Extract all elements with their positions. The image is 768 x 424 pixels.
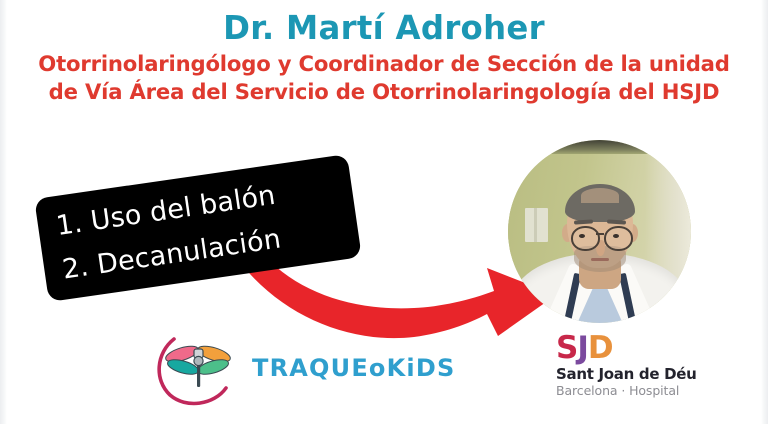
sjd-letter-d: D [588,333,613,364]
presentation-slide: Dr. Martí Adroher Otorrinolaringólogo y … [0,0,768,424]
sjd-letter-j: J [577,333,588,364]
sjd-letter-s: S [556,333,577,364]
doctor-photo [508,140,691,323]
traqueokids-logo [152,326,244,406]
photo-eye-right [613,234,619,238]
left-edge-strip [0,0,7,424]
doctor-role-line-1: Otorrinolaringólogo y Coordinador de Sec… [6,51,762,79]
traqueokids-wordmark: TRAQUEoKiDS [252,354,455,382]
right-edge-strip [761,0,768,424]
photo-glasses-right-lens [604,226,633,251]
doctor-name-heading: Dr. Martí Adroher [8,10,761,46]
sjd-logo: SJD Sant Joan de Déu Barcelona · Hospita… [556,333,706,398]
photo-glasses-left-lens [571,226,600,251]
doctor-photo-content [508,140,691,323]
photo-eye-left [579,234,585,238]
photo-glasses-bridge [596,233,604,235]
photo-mouth [591,258,609,261]
doctor-role-line-2: de Vía Área del Servicio de Otorrinolari… [6,79,762,107]
photo-wall-paper [525,208,548,242]
sjd-hospital-location: Barcelona · Hospital [556,383,706,399]
sjd-letters: SJD [556,333,706,364]
sjd-hospital-name: Sant Joan de Déu [556,366,706,383]
topics-card: 1. Uso del balón 2. Decanulación [34,154,362,302]
title-block: Dr. Martí Adroher Otorrinolaringólogo y … [0,10,768,107]
dragonfly-icon [152,326,244,406]
